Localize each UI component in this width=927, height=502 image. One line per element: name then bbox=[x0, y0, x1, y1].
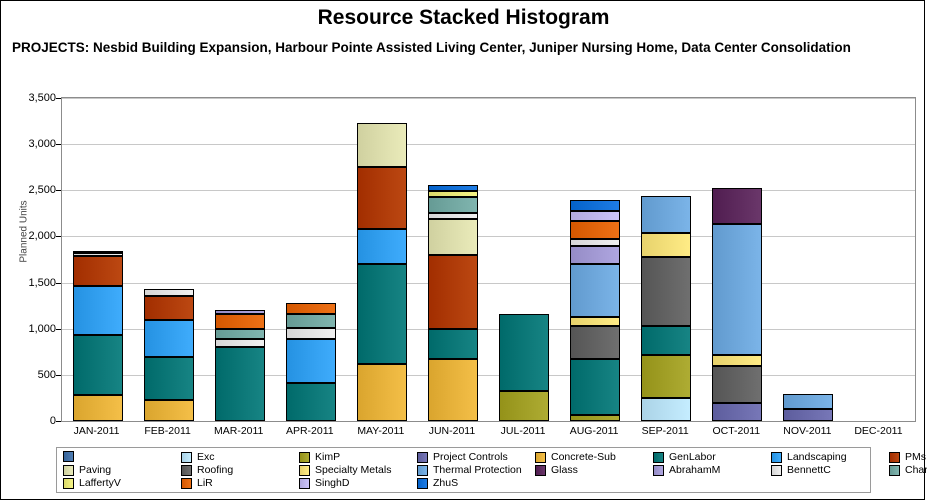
legend-label: LiR bbox=[197, 477, 213, 489]
chart-window: Resource Stacked Histogram PROJECTS: Nes… bbox=[0, 0, 925, 500]
legend-item[interactable]: Concrete-Sub bbox=[535, 451, 616, 463]
legend-label: ZhuS bbox=[433, 477, 458, 489]
y-axis-tick-marks bbox=[1, 97, 61, 422]
legend-label: Concrete-Sub bbox=[551, 451, 616, 463]
x-axis-tick-label: SEP-2011 bbox=[630, 425, 701, 437]
bar-segment[interactable] bbox=[73, 395, 123, 421]
bar-column[interactable] bbox=[854, 98, 904, 421]
bar-segment[interactable] bbox=[570, 326, 620, 359]
bar-segment[interactable] bbox=[428, 185, 478, 191]
legend-color-swatch-icon bbox=[653, 465, 664, 476]
legend-label: Project Controls bbox=[433, 451, 508, 463]
bar-segment[interactable] bbox=[215, 314, 265, 329]
legend-color-swatch-icon bbox=[889, 465, 900, 476]
bar-segment[interactable] bbox=[570, 200, 620, 210]
bar-segment[interactable] bbox=[712, 188, 762, 223]
bar-segment[interactable] bbox=[357, 264, 407, 364]
legend-label: Specialty Metals bbox=[315, 464, 391, 476]
bar-segment[interactable] bbox=[357, 229, 407, 264]
bar-column[interactable] bbox=[570, 98, 620, 421]
legend-label: Glass bbox=[551, 464, 578, 476]
legend-color-swatch-icon bbox=[653, 452, 664, 463]
x-axis-tick-label: NOV-2011 bbox=[772, 425, 843, 437]
legend-color-swatch-icon bbox=[417, 452, 428, 463]
legend-label: Landscaping bbox=[787, 451, 847, 463]
legend-item[interactable]: GenLabor bbox=[653, 451, 716, 463]
legend-label: KimP bbox=[315, 451, 340, 463]
bar-column[interactable] bbox=[641, 98, 691, 421]
bar-segment[interactable] bbox=[570, 359, 620, 415]
legend-label: Paving bbox=[79, 464, 111, 476]
bar-segment[interactable] bbox=[357, 167, 407, 229]
x-axis-tick-label: MAR-2011 bbox=[203, 425, 274, 437]
legend-label: AbrahamM bbox=[669, 464, 720, 476]
legend-item[interactable]: Thermal Protection bbox=[417, 464, 522, 476]
bar-segment[interactable] bbox=[428, 213, 478, 219]
bar-column[interactable] bbox=[783, 98, 833, 421]
x-axis-tick-label: JUL-2011 bbox=[488, 425, 559, 437]
bar-segment[interactable] bbox=[144, 320, 194, 358]
legend-label: Roofing bbox=[197, 464, 233, 476]
bar-segment[interactable] bbox=[641, 233, 691, 257]
bar-column[interactable] bbox=[286, 98, 336, 421]
bar-segment[interactable] bbox=[428, 255, 478, 329]
projects-subtitle: PROJECTS: Nesbid Building Expansion, Har… bbox=[12, 39, 892, 56]
bar-segment[interactable] bbox=[499, 314, 549, 391]
x-axis-tick-label: JAN-2011 bbox=[61, 425, 132, 437]
legend-color-swatch-icon bbox=[63, 478, 74, 489]
legend-color-swatch-icon bbox=[535, 465, 546, 476]
bar-column[interactable] bbox=[712, 98, 762, 421]
legend: ExcKimPProject ControlsConcrete-SubGenLa… bbox=[56, 447, 871, 493]
bar-segment[interactable] bbox=[286, 339, 336, 383]
bar-segment[interactable] bbox=[712, 355, 762, 366]
bar-segment[interactable] bbox=[144, 357, 194, 399]
bar-segment[interactable] bbox=[783, 409, 833, 421]
legend-color-swatch-icon bbox=[417, 478, 428, 489]
legend-label: CharlesM bbox=[905, 464, 927, 476]
bar-segment[interactable] bbox=[499, 391, 549, 421]
legend-color-swatch-icon bbox=[889, 452, 900, 463]
bar-segment[interactable] bbox=[286, 328, 336, 339]
bar-segment[interactable] bbox=[215, 347, 265, 421]
bar-segment[interactable] bbox=[144, 400, 194, 421]
bar-segment[interactable] bbox=[357, 364, 407, 421]
bar-segment[interactable] bbox=[570, 246, 620, 264]
legend-label: GenLabor bbox=[669, 451, 716, 463]
legend-item[interactable]: LaffertyV bbox=[63, 477, 121, 489]
bar-segment[interactable] bbox=[783, 394, 833, 409]
legend-color-swatch-icon bbox=[181, 478, 192, 489]
bar-segment[interactable] bbox=[215, 339, 265, 347]
legend-item[interactable]: Roofing bbox=[181, 464, 233, 476]
legend-label: Thermal Protection bbox=[433, 464, 522, 476]
bar-segment[interactable] bbox=[641, 257, 691, 326]
legend-item[interactable]: Paving bbox=[63, 464, 111, 476]
bar-segment[interactable] bbox=[641, 355, 691, 398]
legend-item[interactable]: Glass bbox=[535, 464, 578, 476]
x-axis-tick-labels: JAN-2011FEB-2011MAR-2011APR-2011MAY-2011… bbox=[61, 425, 916, 441]
bar-segment[interactable] bbox=[712, 224, 762, 355]
x-axis-tick-label: DEC-2011 bbox=[843, 425, 914, 437]
legend-color-swatch-icon bbox=[771, 452, 782, 463]
legend-color-swatch-icon bbox=[181, 452, 192, 463]
plot-area bbox=[61, 97, 916, 422]
bar-segment[interactable] bbox=[73, 335, 123, 395]
x-axis-tick-label: OCT-2011 bbox=[701, 425, 772, 437]
legend-item[interactable]: KimP bbox=[299, 451, 340, 463]
bar-segment[interactable] bbox=[73, 286, 123, 335]
legend-label: SinghD bbox=[315, 477, 349, 489]
bar-segment[interactable] bbox=[144, 289, 194, 295]
legend-color-swatch-icon bbox=[299, 478, 310, 489]
bar-segment[interactable] bbox=[570, 221, 620, 239]
bar-segment[interactable] bbox=[712, 403, 762, 421]
legend-item[interactable]: CharlesM bbox=[889, 464, 927, 476]
bar-column[interactable] bbox=[499, 98, 549, 421]
x-axis-tick-label: FEB-2011 bbox=[132, 425, 203, 437]
bar-segment[interactable] bbox=[73, 251, 123, 253]
bar-series-container bbox=[62, 98, 915, 421]
legend-color-swatch-icon bbox=[63, 451, 74, 462]
legend-item[interactable] bbox=[63, 451, 79, 462]
legend-item[interactable]: Specialty Metals bbox=[299, 464, 391, 476]
legend-label: LaffertyV bbox=[79, 477, 121, 489]
bar-segment[interactable] bbox=[286, 314, 336, 328]
page-title: Resource Stacked Histogram bbox=[1, 6, 926, 30]
legend-label: BennettC bbox=[787, 464, 831, 476]
x-axis-tick-label: JUN-2011 bbox=[416, 425, 487, 437]
legend-color-swatch-icon bbox=[181, 465, 192, 476]
legend-item[interactable]: BennettC bbox=[771, 464, 831, 476]
bar-segment[interactable] bbox=[73, 256, 123, 286]
legend-color-swatch-icon bbox=[417, 465, 428, 476]
bar-segment[interactable] bbox=[286, 303, 336, 314]
bar-column[interactable] bbox=[144, 98, 194, 421]
legend-color-swatch-icon bbox=[299, 465, 310, 476]
legend-item[interactable]: PMs bbox=[889, 451, 926, 463]
bar-segment[interactable] bbox=[428, 219, 478, 255]
bar-column[interactable] bbox=[73, 98, 123, 421]
x-axis-tick-label: AUG-2011 bbox=[559, 425, 630, 437]
bar-segment[interactable] bbox=[641, 326, 691, 355]
legend-label: Exc bbox=[197, 451, 215, 463]
legend-color-swatch-icon bbox=[63, 465, 74, 476]
bar-segment[interactable] bbox=[570, 264, 620, 317]
bar-segment[interactable] bbox=[428, 359, 478, 421]
legend-color-swatch-icon bbox=[299, 452, 310, 463]
bar-segment[interactable] bbox=[641, 398, 691, 421]
legend-item[interactable]: SinghD bbox=[299, 477, 349, 489]
bar-column[interactable] bbox=[215, 98, 265, 421]
bar-segment[interactable] bbox=[570, 211, 620, 221]
bar-segment[interactable] bbox=[286, 383, 336, 421]
bar-column[interactable] bbox=[428, 98, 478, 421]
x-axis-tick-label: MAY-2011 bbox=[345, 425, 416, 437]
legend-item[interactable]: Exc bbox=[181, 451, 215, 463]
bar-segment[interactable] bbox=[570, 317, 620, 326]
bar-segment[interactable] bbox=[357, 123, 407, 167]
x-axis-tick-label: APR-2011 bbox=[274, 425, 345, 437]
bar-segment[interactable] bbox=[144, 296, 194, 320]
bar-segment[interactable] bbox=[641, 196, 691, 233]
legend-item[interactable]: AbrahamM bbox=[653, 464, 720, 476]
bar-segment[interactable] bbox=[570, 415, 620, 421]
bar-segment[interactable] bbox=[428, 197, 478, 214]
bar-segment[interactable] bbox=[428, 329, 478, 359]
legend-item[interactable]: LiR bbox=[181, 477, 213, 489]
bar-segment[interactable] bbox=[712, 366, 762, 403]
legend-item[interactable]: Landscaping bbox=[771, 451, 847, 463]
bar-segment[interactable] bbox=[428, 191, 478, 197]
bar-segment[interactable] bbox=[73, 253, 123, 256]
bar-segment[interactable] bbox=[215, 329, 265, 339]
legend-item[interactable]: ZhuS bbox=[417, 477, 458, 489]
bar-column[interactable] bbox=[357, 98, 407, 421]
legend-color-swatch-icon bbox=[771, 465, 782, 476]
legend-label: PMs bbox=[905, 451, 926, 463]
legend-color-swatch-icon bbox=[535, 452, 546, 463]
legend-item[interactable]: Project Controls bbox=[417, 451, 508, 463]
bar-segment[interactable] bbox=[215, 310, 265, 314]
bar-segment[interactable] bbox=[570, 239, 620, 245]
